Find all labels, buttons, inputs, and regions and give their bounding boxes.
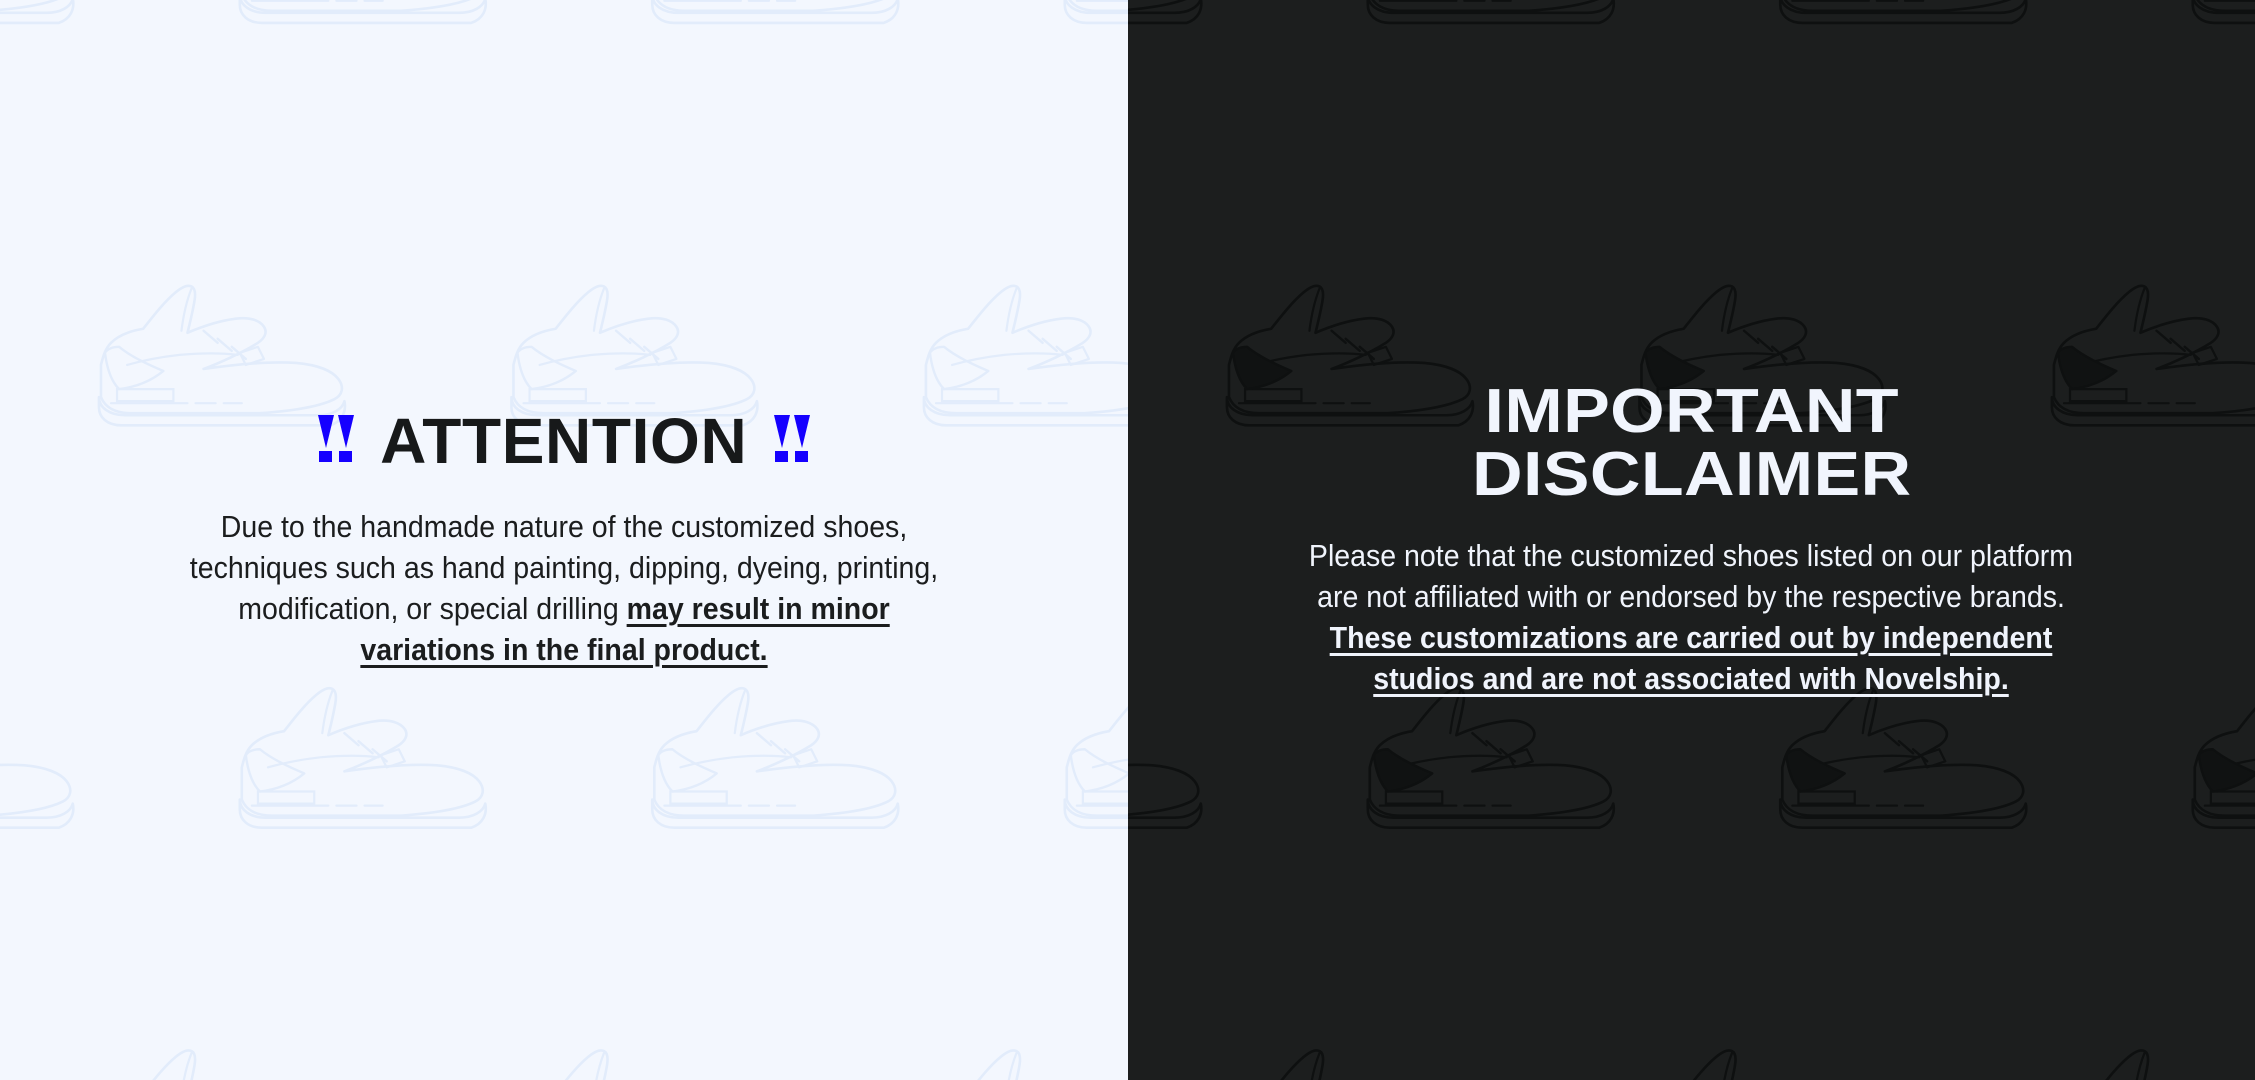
disclaimer-body-emphasis: These customizations are carried out by … (1330, 620, 2053, 696)
attention-content: ATTENTION Due to the handmade nature of … (0, 409, 1128, 671)
attention-heading: ATTENTION (40, 409, 1088, 473)
double-exclamation-mark-icon-right (773, 415, 810, 462)
disclaimer-heading: IMPORTANT DISCLAIMER (1168, 380, 2216, 506)
disclaimer-content: IMPORTANT DISCLAIMER Please note that th… (1128, 380, 2255, 700)
disclaimer-heading-line-2: DISCLAIMER (1128, 443, 2255, 506)
attention-heading-text: ATTENTION (380, 409, 747, 473)
attention-panel: ATTENTION Due to the handmade nature of … (0, 0, 1128, 1080)
double-exclamation-mark-icon-left (317, 415, 354, 462)
disclaimer-body-normal: Please note that the customized shoes li… (1309, 538, 2073, 614)
disclaimer-heading-line-1: IMPORTANT (1128, 380, 2255, 443)
disclaimer-body: Please note that the customized shoes li… (1296, 536, 2087, 700)
disclaimer-panel: IMPORTANT DISCLAIMER Please note that th… (1128, 0, 2255, 1080)
attention-body: Due to the handmade nature of the custom… (177, 507, 950, 671)
